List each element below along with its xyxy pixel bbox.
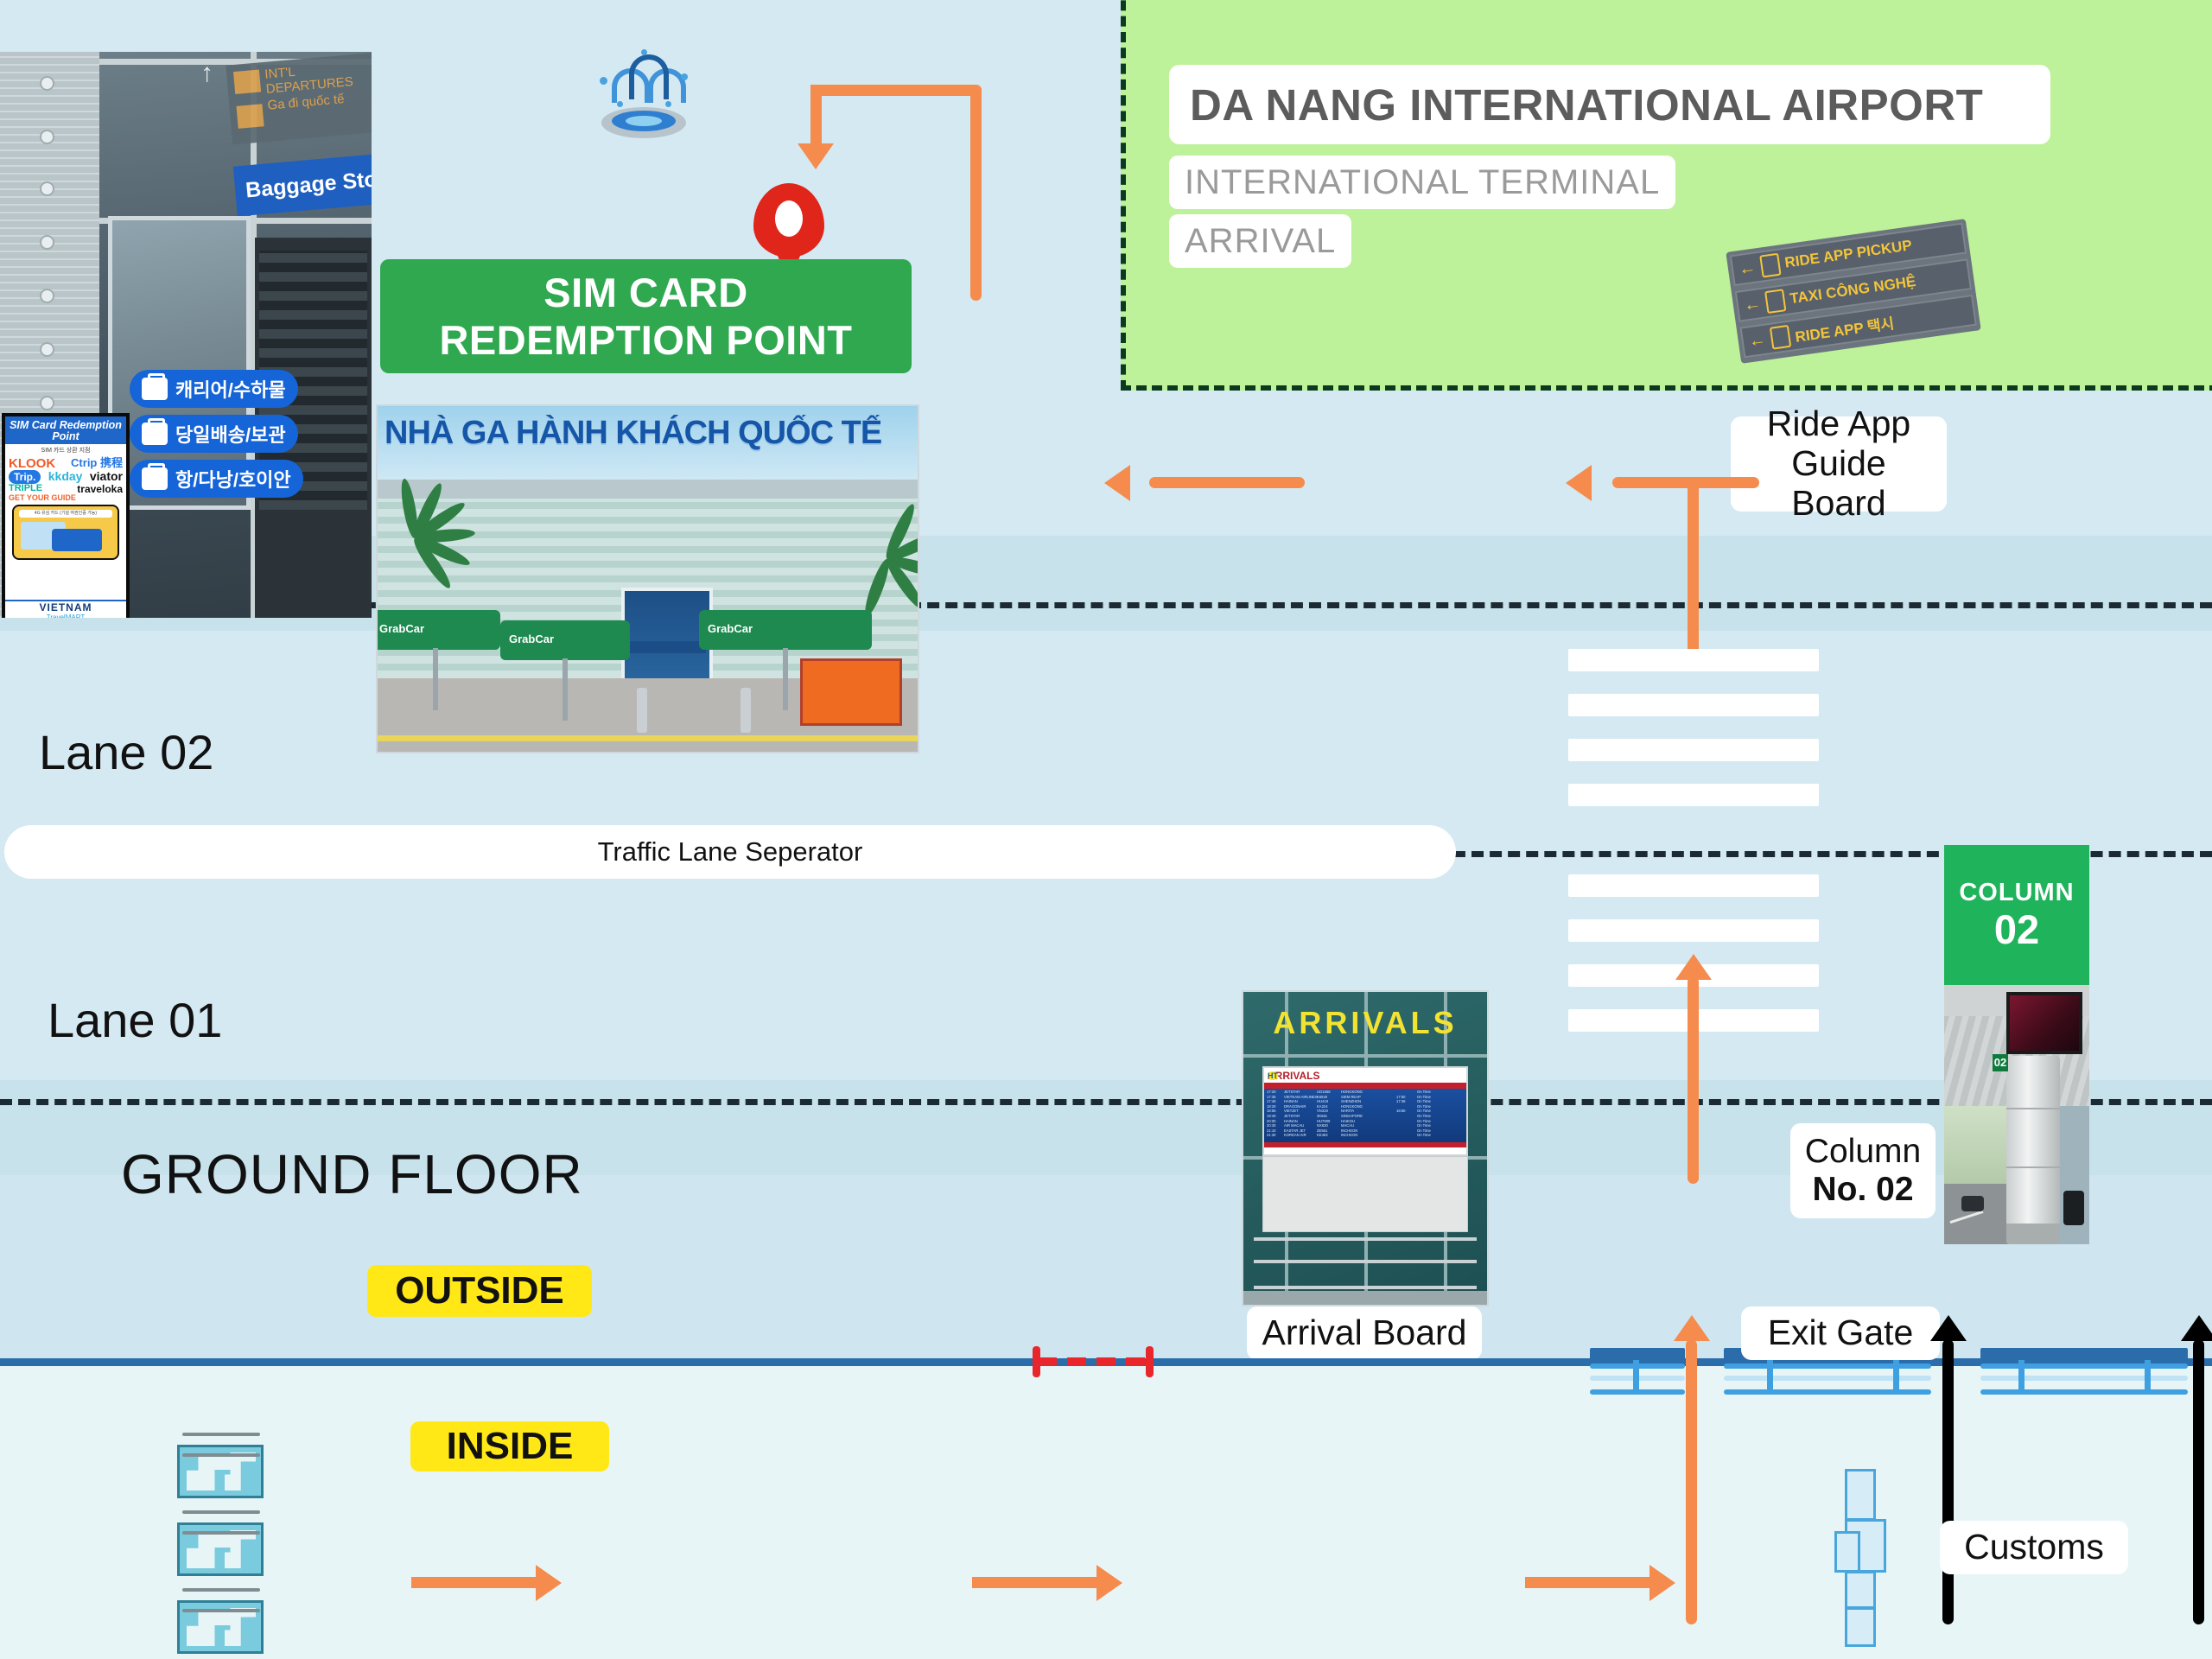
lane-divider-dashed-bottom (0, 1099, 2212, 1105)
up-arrow-icon: ↑ (200, 59, 213, 88)
klook-logo: KLOOK (9, 457, 55, 470)
sign-arrow-left-icon-2: ← (1743, 294, 1763, 316)
international-terminal-photo: NHÀ GA HÀNH KHÁCH QUỐC TẾ GrabCar GrabCa… (376, 404, 919, 753)
airport-title-chip: DA NANG INTERNATIONAL AIRPORT (1169, 65, 2050, 144)
column-tag-number: 02 (1994, 906, 2039, 953)
sign-arrow-left-icon-1: ← (1738, 257, 1758, 280)
lower-crosswalk-arrow-head (1675, 954, 1712, 980)
trip-logo: Trip. (9, 470, 41, 484)
customs-arrow-shaft-1 (1942, 1339, 1954, 1624)
terminal-subtitle-chip-1: INTERNATIONAL TERMINAL (1169, 156, 1675, 209)
baggage-storage-photo: INT'L DEPARTURES Ga đi quốc tế ↑ Baggage… (0, 52, 372, 618)
ground-floor-label: GROUND FLOOR (121, 1142, 583, 1206)
arrival-board-label: Arrival Board (1247, 1306, 1482, 1360)
ride-app-guide-line2: Guide Board (1745, 444, 1933, 524)
exit-gate-label: Exit Gate (1741, 1306, 1940, 1360)
crosswalk-stripe (1568, 649, 1819, 671)
fountain-icon (596, 48, 691, 138)
route-icon (142, 467, 168, 490)
arrivals-rows: 17:20JETSTARUO1558HONGKONGOn Time 17:35V… (1264, 1089, 1466, 1142)
inside-badge: INSIDE (410, 1421, 609, 1471)
crosswalk-stripe (1568, 739, 1819, 761)
column-no-prefix: Column (1805, 1133, 1921, 1171)
lane02-arrow-head-2 (1566, 465, 1592, 501)
orange-notice-board (800, 658, 902, 726)
standee-title-2: Point (7, 431, 124, 442)
sim-card-redemption-banner: SIM CARD REDEMPTION POINT (380, 259, 912, 373)
flow-arrow-head-3 (1649, 1565, 1675, 1601)
terminal-label: INTERNATIONAL TERMINAL (1169, 163, 1675, 202)
sim-banner-line1: SIM CARD (543, 269, 747, 316)
glass-barrier-1 (1590, 1348, 1685, 1408)
standee-brand-sub: TravelMART (5, 613, 126, 618)
arrival-label: ARRIVAL (1169, 222, 1351, 261)
standee-brand: VIETNAM (5, 601, 126, 613)
getyourguide-logo: GET YOUR GUIDE (9, 494, 76, 502)
standee-korean-sub: SIM 카드 상환 지점 (5, 444, 126, 457)
sim-card-standee: SIM Card Redemption Point SIM 카드 상환 지점 K… (2, 413, 130, 618)
sign-app-icon-1 (1759, 253, 1781, 278)
sim-banner-line2: REDEMPTION POINT (439, 316, 852, 364)
column-tag-word: COLUMN (1959, 879, 2074, 907)
customs-arrow-shaft-2 (2193, 1339, 2204, 1624)
column-02-tag: COLUMN 02 (1944, 845, 2089, 986)
grabcar-umbrella-1: GrabCar (376, 610, 500, 650)
lane02-arrow-shaft-2 (1612, 477, 1759, 488)
column-no-label: Column No. 02 (1790, 1123, 1935, 1218)
crosswalk-stripe (1568, 919, 1819, 942)
exit-gate-arrow-shaft (1686, 1339, 1697, 1624)
korean-baggage-chip-2: 당일배송/보관 (130, 415, 298, 453)
airport-arrival-map: DA NANG INTERNATIONAL AIRPORT INTERNATIO… (0, 0, 2212, 1659)
flow-arrow-head-2 (1096, 1565, 1122, 1601)
crosswalk-stripe (1568, 874, 1819, 897)
flow-arrow-shaft-3 (1525, 1577, 1655, 1588)
column-02-photo: 02 (1944, 985, 2089, 1244)
customs-label: Customs (1940, 1521, 2128, 1574)
traffic-lane-separator: Traffic Lane Seperator (4, 825, 1456, 879)
viator-logo: viator (90, 470, 123, 484)
arrivals-display-panel: HT ARRIVALS 17:20JETSTARUO1558HONGKONGOn… (1262, 1066, 1468, 1156)
delivery-box-icon (142, 423, 168, 445)
lane-02-label: Lane 02 (39, 724, 213, 780)
flow-arrow-shaft-1 (411, 1577, 541, 1588)
lane02-arrow-shaft-1 (1149, 477, 1305, 488)
grabcar-umbrella-2: GrabCar (500, 620, 630, 660)
crosswalk-stripe (1568, 694, 1819, 716)
lane02-arrow-head-1 (1104, 465, 1130, 501)
arrival-board-photo: ARRIVALS HT ARRIVALS 17:20JETSTARUO1558H… (1242, 990, 1489, 1306)
red-span-marker (1033, 1346, 1154, 1377)
customs-arrow-head-2 (2181, 1315, 2212, 1341)
outside-badge: OUTSIDE (367, 1265, 592, 1317)
customs-booth-icon (1834, 1469, 1876, 1642)
korean-baggage-chip-1: 캐리어/수하물 (130, 370, 298, 408)
arrivals-board-logo: HT (1268, 1071, 1278, 1080)
glass-barrier-3 (1980, 1348, 2188, 1408)
lower-crosswalk-arrow-shaft (1688, 976, 1699, 1184)
korean-baggage-chip-3: 항/다낭/호이안 (130, 460, 303, 498)
ctrip-logo: Ctrip 携程 (71, 457, 123, 470)
suitcase-icon (142, 378, 168, 400)
exit-gate-arrow-head (1674, 1315, 1710, 1341)
page-title: DA NANG INTERNATIONAL AIRPORT (1169, 79, 1983, 130)
customs-arrow-head-1 (1930, 1315, 1967, 1341)
column-number-marker: 02 (1993, 1054, 2008, 1071)
arrivals-facade-sign: ARRIVALS (1257, 1006, 1473, 1040)
sign-arrow-left-icon-3: ← (1747, 329, 1767, 352)
crosswalk-arrow-up-shaft (1688, 477, 1699, 667)
standee-phone-caption: 4G 유심 카드 (기설 여권인증 가능) (19, 510, 112, 518)
flow-arrow-shaft-2 (972, 1577, 1102, 1588)
flow-arrow-head-1 (536, 1565, 562, 1601)
sign-app-icon-3 (1770, 325, 1791, 350)
standee-phone-image: 4G 유심 카드 (기설 여권인증 가능) (12, 505, 119, 560)
crosswalk-stripe (1568, 784, 1819, 806)
grabcar-umbrella-3: GrabCar (699, 610, 872, 650)
ride-app-guide-line1: Ride App (1767, 404, 1910, 444)
terminal-building-sign: NHÀ GA HÀNH KHÁCH QUỐC TẾ (385, 415, 911, 460)
ride-app-guide-board-label: Ride App Guide Board (1731, 416, 1947, 512)
sign-app-icon-2 (1764, 289, 1786, 314)
terminal-subtitle-chip-2: ARRIVAL (1169, 214, 1351, 268)
kkday-logo: kkday (48, 470, 83, 484)
column-no-value: No. 02 (1812, 1171, 1913, 1208)
lane-01-label: Lane 01 (48, 992, 222, 1048)
departures-directory-sign: INT'L DEPARTURES Ga đi quốc tế (226, 53, 372, 145)
traveloka-logo: traveloka (77, 484, 123, 494)
